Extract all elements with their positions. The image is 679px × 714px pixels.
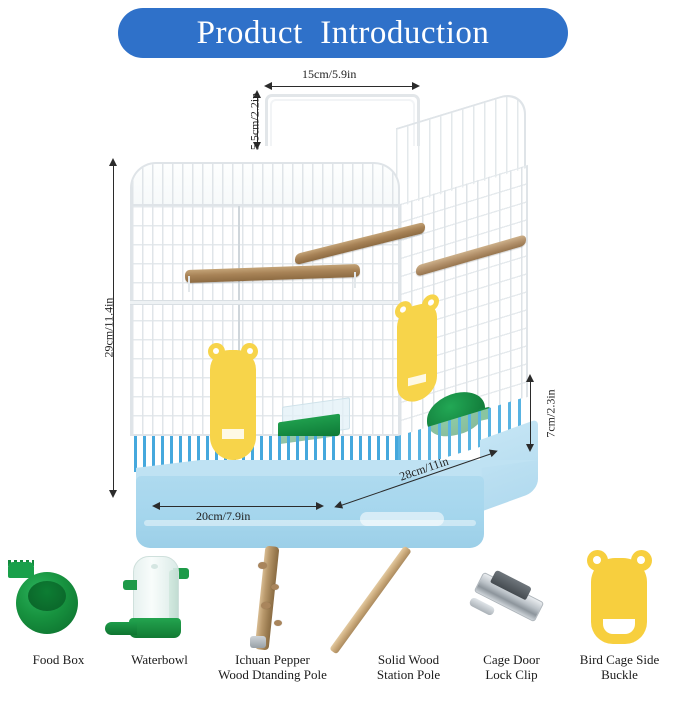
- cage-dome-bars: [132, 164, 398, 206]
- accessory-solid-wood-pole: Solid Wood Station Pole: [352, 540, 465, 714]
- cage-horizontal-rail: [130, 300, 400, 305]
- buckle-ear-hole-right: [247, 348, 253, 354]
- cage-door-lock-clip-icon: [455, 540, 568, 652]
- accessory-list: Food Box Waterbowl Ichuan Pepper Wood Dt…: [0, 540, 679, 714]
- waterbowl-icon: [103, 540, 216, 652]
- accessory-label-pepper-wood-pole: Ichuan Pepper Wood Dtanding Pole: [210, 652, 335, 682]
- side-buckle-installed-front: [210, 350, 256, 460]
- accessory-waterbowl: Waterbowl: [103, 540, 216, 714]
- waterbowl-arm-left: [123, 580, 137, 590]
- pepper-wood-pole-icon: [216, 540, 329, 652]
- waterbowl-spout: [105, 622, 137, 635]
- product-figure: 15cm/5.9in 5.5cm/2.2in: [0, 62, 679, 532]
- handle-width-arrow-left: [264, 82, 272, 90]
- tray-front-panel: [136, 476, 484, 548]
- side-buckle-mouth-bar: [603, 614, 635, 619]
- accessory-side-buckle: Bird Cage Side Buckle: [563, 540, 676, 714]
- buckle-mouth-slot: [405, 370, 429, 390]
- buckle-mouth-slot: [219, 426, 247, 442]
- side-buckle-icon: [563, 540, 676, 652]
- wood-knot: [271, 584, 279, 590]
- perch-bracket-right: [354, 272, 356, 288]
- waterbowl-cap-vent: [151, 564, 158, 569]
- cage-height-arrow-up: [109, 158, 117, 166]
- wood-knot: [261, 602, 271, 609]
- solid-wood-dowel: [329, 546, 412, 655]
- solid-wood-pole-icon: [352, 540, 465, 652]
- pole-mount-screw: [250, 636, 266, 648]
- cage-height-label: 29cm/11.4in: [102, 278, 117, 378]
- cage-height-arrow-down: [109, 490, 117, 498]
- tray-height-arrow-up: [526, 374, 534, 382]
- accessory-label-side-buckle: Bird Cage Side Buckle: [557, 652, 679, 682]
- cage-handle-inner: [270, 99, 415, 146]
- food-box-bowl-interior: [28, 581, 66, 611]
- cage-width-arrow-right: [316, 502, 324, 510]
- side-buckle-ear-hole-left: [593, 556, 601, 564]
- buckle-ear-hole-left: [213, 348, 219, 354]
- wood-knot: [274, 620, 282, 626]
- handle-width-label: 15cm/5.9in: [302, 67, 356, 82]
- accessory-label-waterbowl: Waterbowl: [97, 652, 222, 667]
- accessory-pepper-wood-pole: Ichuan Pepper Wood Dtanding Pole: [216, 540, 329, 714]
- tray-height-arrow-down: [526, 444, 534, 452]
- handle-width-line: [268, 86, 416, 87]
- handle-width-arrow-right: [412, 82, 420, 90]
- side-buckle-installed-right: [397, 300, 437, 406]
- perch-bracket-left: [188, 276, 190, 292]
- accessory-cage-door-clip: Cage Door Lock Clip: [455, 540, 568, 714]
- tray-notch: [360, 512, 444, 526]
- tray-height-line: [530, 378, 531, 448]
- accessory-food-box: Food Box: [2, 540, 115, 714]
- page-title-banner: Product Introduction: [118, 8, 568, 58]
- side-buckle-ear-hole-right: [637, 556, 645, 564]
- page-title: Product Introduction: [197, 15, 490, 52]
- cage-width-line: [156, 506, 320, 507]
- cage-width-label: 20cm/7.9in: [196, 509, 250, 524]
- pepper-wood-branch: [255, 546, 280, 651]
- tray-height-label: 7cm/2.3in: [544, 376, 559, 452]
- accessory-label-cage-door-clip: Cage Door Lock Clip: [449, 652, 574, 682]
- cage-width-arrow-left: [152, 502, 160, 510]
- food-box-icon: [2, 540, 115, 652]
- cage-body: [130, 150, 530, 480]
- wood-knot: [258, 562, 267, 569]
